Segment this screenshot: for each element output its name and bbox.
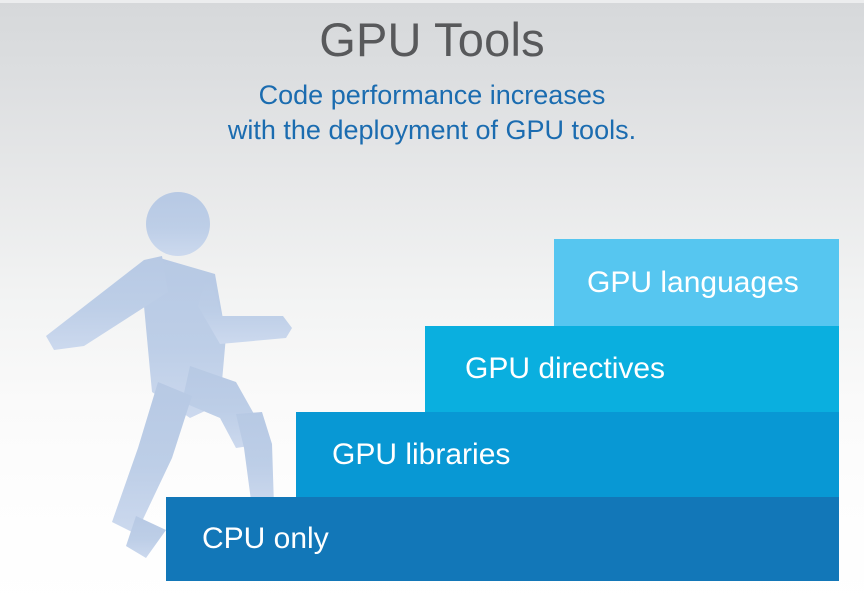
step-cpu-only-label: CPU only xyxy=(166,524,329,554)
step-gpu-libraries[interactable]: GPU libraries xyxy=(296,412,839,497)
step-gpu-languages[interactable]: GPU languages xyxy=(554,239,839,326)
step-gpu-directives-label: GPU directives xyxy=(425,354,665,384)
step-cpu-only[interactable]: CPU only xyxy=(166,497,839,581)
staircase-chart: GPU languages GPU directives GPU librari… xyxy=(0,0,864,610)
gpu-tools-slide: GPU Tools Code performance increases wit… xyxy=(0,0,864,610)
step-gpu-libraries-label: GPU libraries xyxy=(296,440,510,470)
step-gpu-directives[interactable]: GPU directives xyxy=(425,326,839,412)
step-gpu-languages-label: GPU languages xyxy=(554,268,799,298)
